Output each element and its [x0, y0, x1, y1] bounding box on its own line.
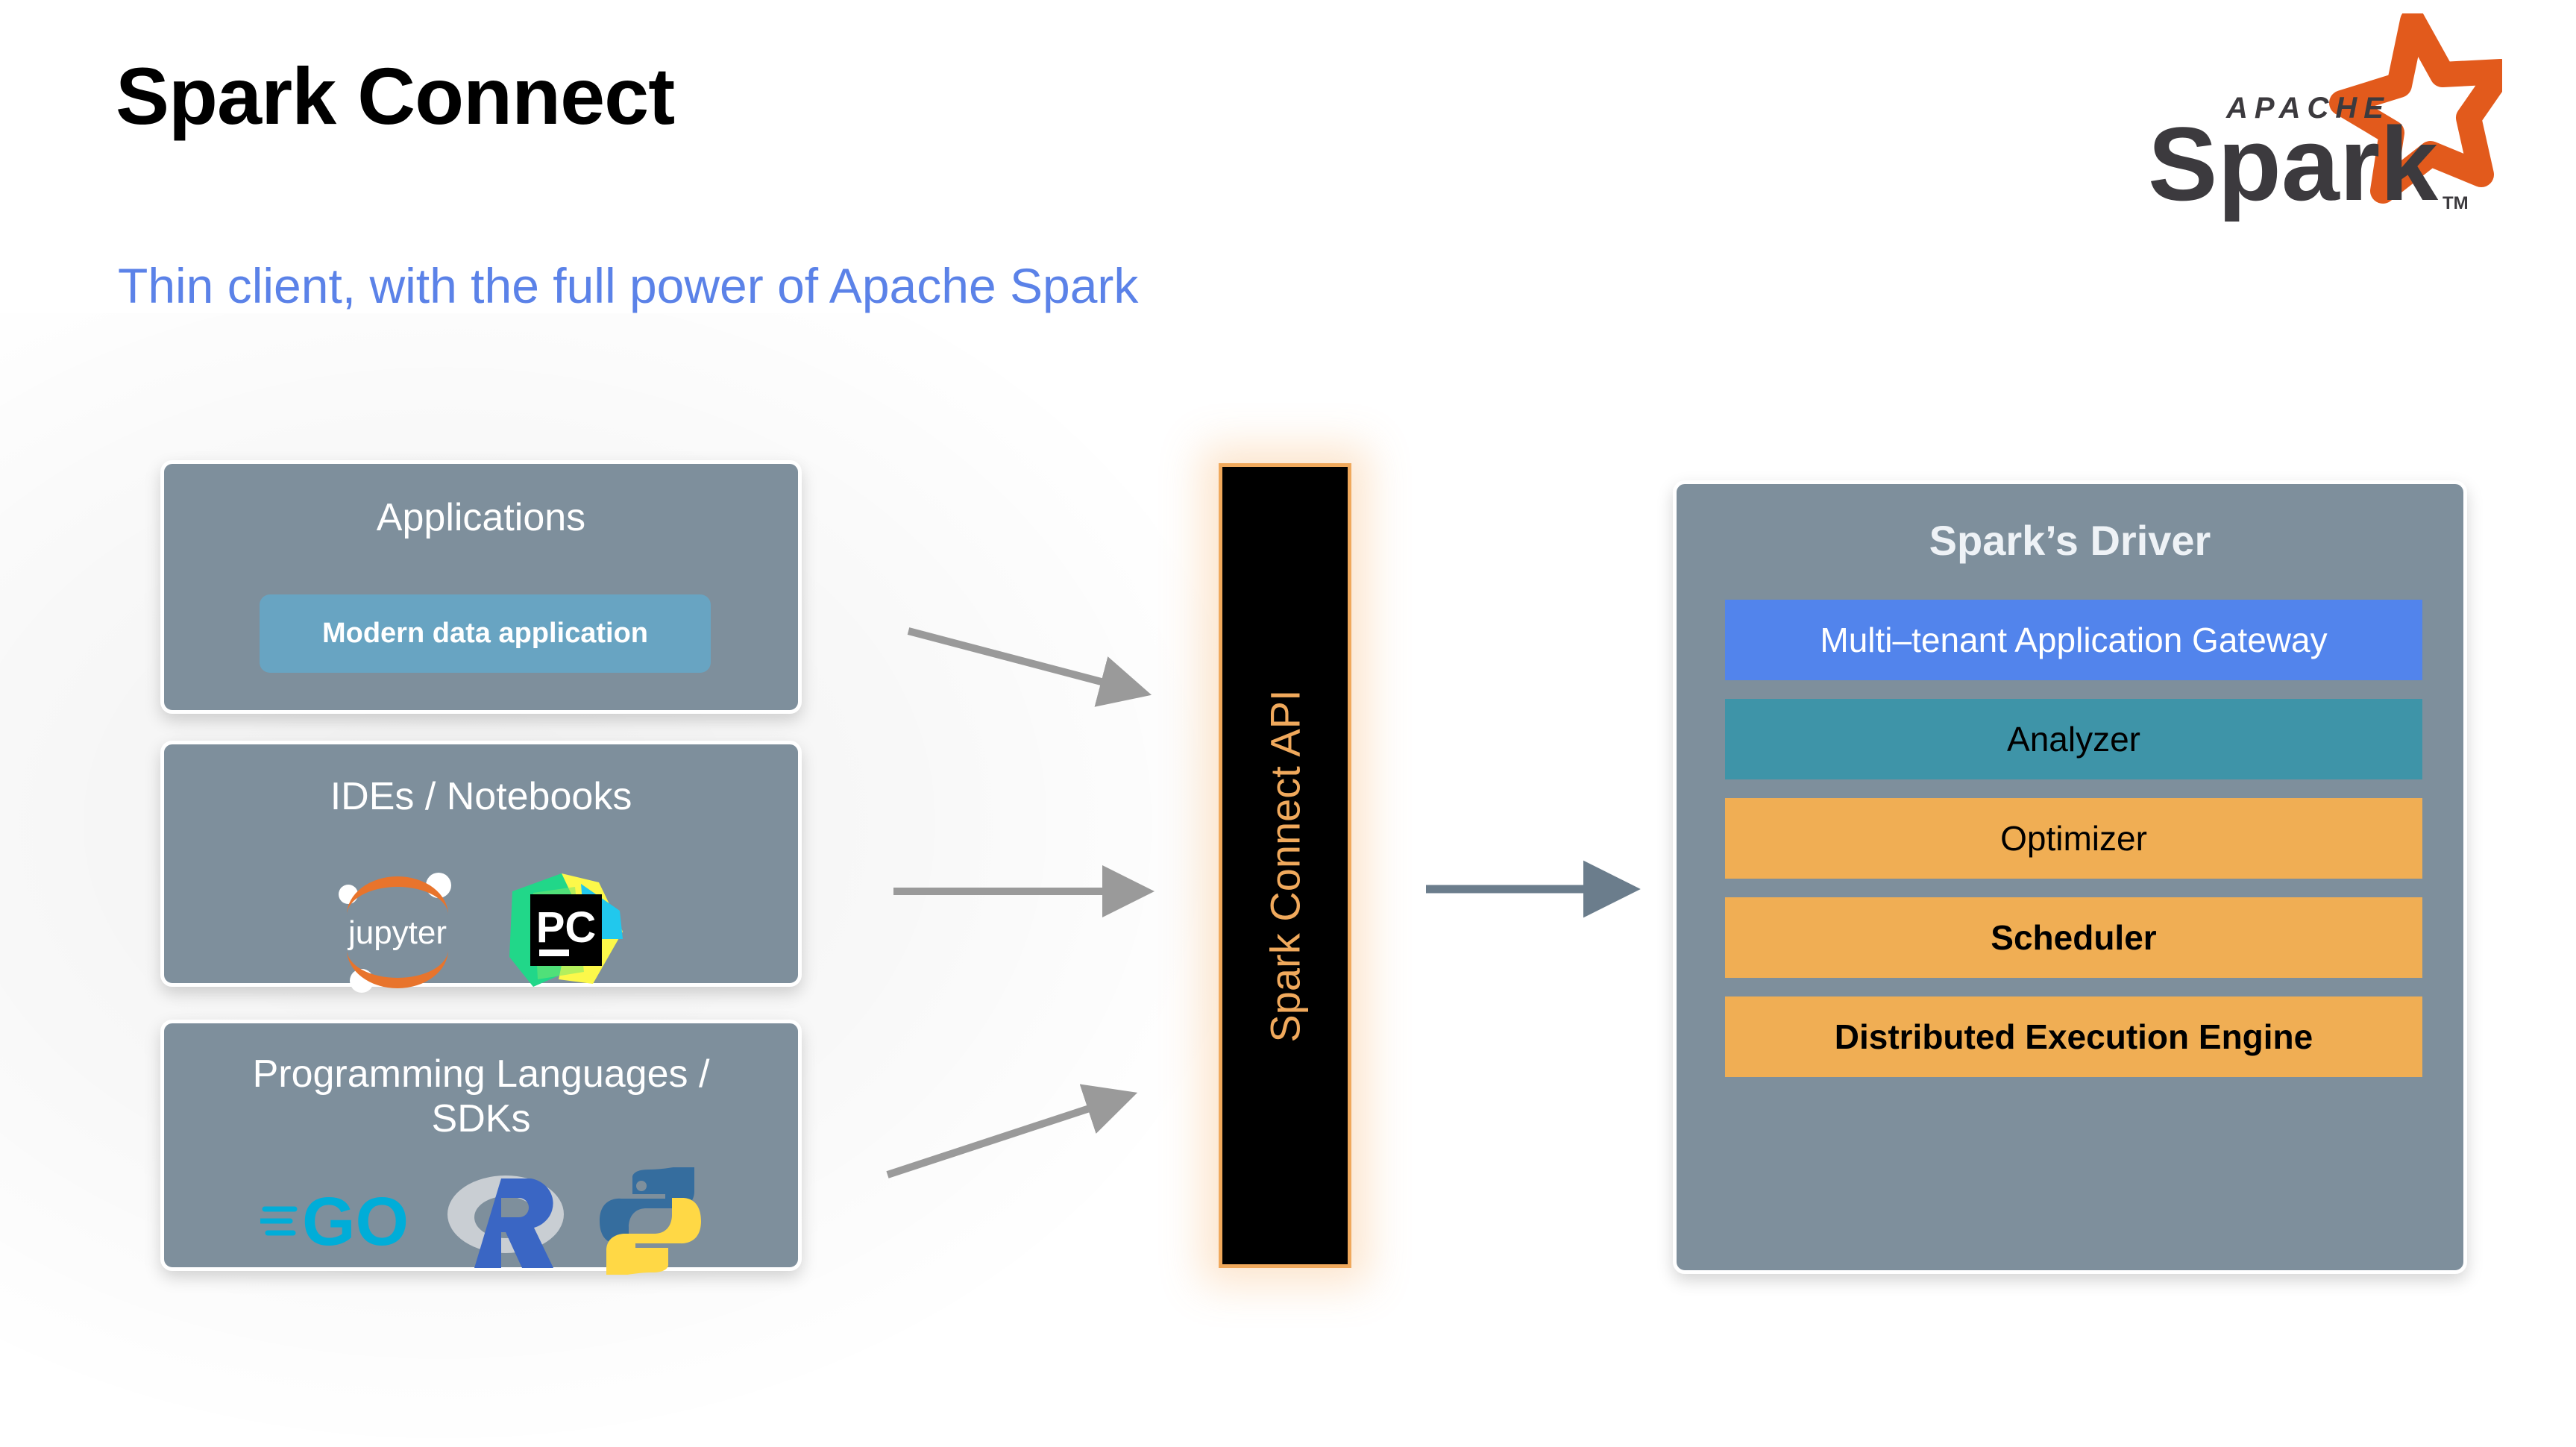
languages-logo-row: GO: [164, 1165, 798, 1281]
svg-text:Spark: Spark: [2148, 105, 2438, 222]
apache-spark-logo: APACHE Spark TM: [2129, 13, 2502, 222]
driver-layer-optimizer[interactable]: Optimizer: [1725, 798, 2422, 879]
driver-layer-execution-engine[interactable]: Distributed Execution Engine: [1725, 996, 2422, 1077]
ides-logo-row: jupyter PC: [164, 867, 798, 998]
spark-connect-api-label: Spark Connect API: [1261, 689, 1310, 1042]
modern-data-application-chip[interactable]: Modern data application: [260, 594, 711, 673]
driver-layer-gateway[interactable]: Multi–tenant Application Gateway: [1725, 600, 2422, 680]
svg-text:TM: TM: [2443, 193, 2469, 213]
panel-applications[interactable]: Applications Modern data application: [160, 460, 802, 714]
panel-ides-notebooks[interactable]: IDEs / Notebooks jupyter PC: [160, 741, 802, 987]
svg-text:jupyter: jupyter: [347, 914, 447, 951]
page-subtitle: Thin client, with the full power of Apac…: [118, 261, 1138, 310]
go-logo: GO: [260, 1176, 413, 1269]
panel-spark-driver[interactable]: Spark’s Driver Multi–tenant Application …: [1673, 480, 2467, 1274]
spark-connect-api-bar[interactable]: Spark Connect API: [1219, 463, 1351, 1268]
panel-applications-title: Applications: [164, 495, 798, 540]
driver-layer-analyzer[interactable]: Analyzer: [1725, 699, 2422, 779]
panel-programming-languages[interactable]: Programming Languages / SDKs GO: [160, 1020, 802, 1271]
python-logo: [598, 1167, 703, 1278]
pycharm-logo: PC: [503, 867, 630, 998]
arrow-languages-to-api: [888, 1106, 1096, 1175]
page-title: Spark Connect: [116, 56, 674, 136]
panel-languages-title-line2: SDKs: [432, 1097, 531, 1140]
svg-text:GO: GO: [302, 1184, 409, 1260]
panel-driver-title: Spark’s Driver: [1677, 517, 2463, 565]
r-logo: [443, 1165, 568, 1281]
panel-ides-title: IDEs / Notebooks: [164, 774, 798, 819]
driver-layer-stack: Multi–tenant Application Gateway Analyze…: [1725, 600, 2422, 1096]
panel-languages-title-line1: Programming Languages /: [253, 1052, 710, 1096]
panel-languages-title: Programming Languages / SDKs: [164, 1052, 798, 1142]
driver-layer-scheduler[interactable]: Scheduler: [1725, 897, 2422, 978]
svg-text:PC: PC: [536, 903, 597, 952]
arrow-applications-to-api: [908, 631, 1110, 684]
jupyter-logo: jupyter: [332, 869, 463, 996]
